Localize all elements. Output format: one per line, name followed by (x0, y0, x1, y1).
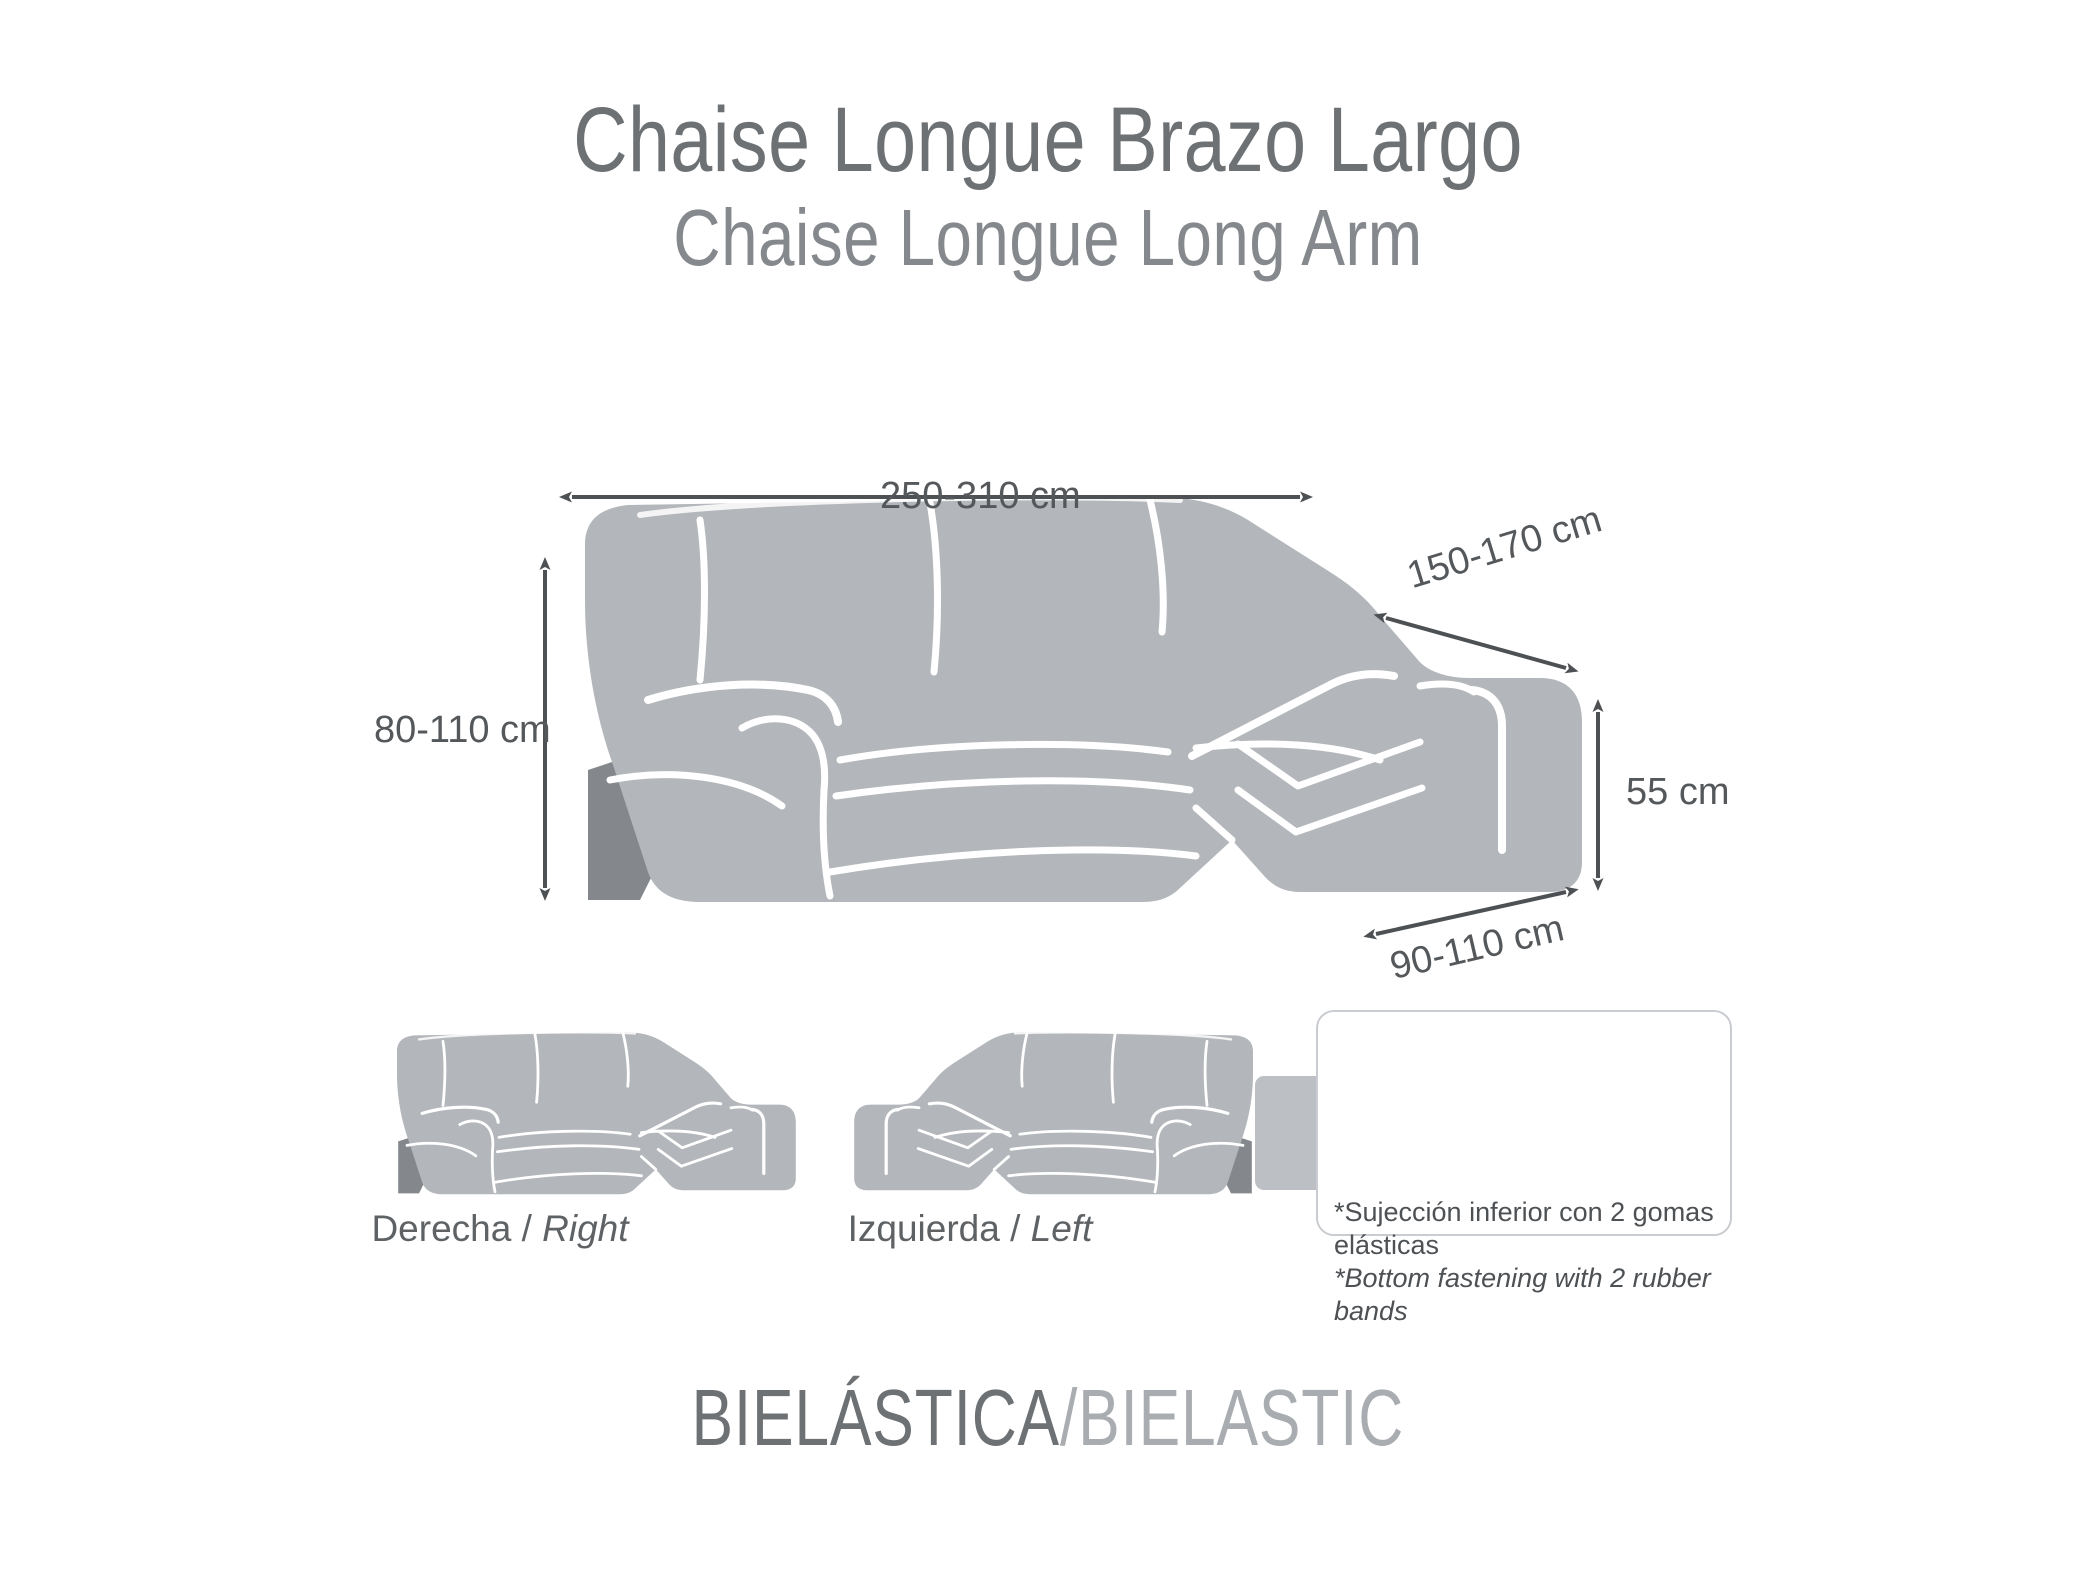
variant-caption-right: Derecha / Right (290, 1207, 710, 1251)
variant-right-label-es: Derecha / (371, 1208, 542, 1249)
fabric-type-banner: BIELÁSTICA/BIELASTIC (0, 1372, 2096, 1464)
variant-right-illustration (397, 1032, 796, 1194)
variant-left-label-es: Izquierda / (848, 1208, 1031, 1249)
title-english: Chaise Longue Long Arm (189, 192, 1908, 284)
variant-left-illustration (854, 1032, 1253, 1194)
dimension-label-width: 250-310 cm (880, 474, 1081, 518)
banner-text-en: /BIELASTIC (1060, 1373, 1404, 1462)
variant-caption-left: Izquierda / Left (760, 1207, 1180, 1251)
dimension-label-chaise-depth: 150-170 cm (1402, 497, 1607, 598)
dimension-label-seat-height: 55 cm (1626, 770, 1729, 814)
fastening-info-text: *Sujección inferior con 2 gomas elástica… (1334, 1196, 1726, 1328)
fastening-note-es: *Sujección inferior con 2 gomas elástica… (1334, 1196, 1726, 1262)
fastening-note-en: *Bottom fastening with 2 rubber bands (1334, 1262, 1726, 1328)
banner-text-es: BIELÁSTICA (692, 1373, 1060, 1462)
dimension-chaise-depth (1386, 618, 1566, 668)
product-spec-sheet: Chaise Longue Brazo Largo Chaise Longue … (0, 0, 2096, 1572)
title-spanish: Chaise Longue Brazo Largo (189, 88, 1908, 192)
variant-right-label-en: Right (542, 1208, 628, 1249)
dimension-label-chaise-width: 90-110 cm (1386, 906, 1568, 989)
page-title: Chaise Longue Brazo Largo Chaise Longue … (0, 88, 2096, 284)
dimension-label-height: 80-110 cm (374, 708, 551, 752)
variant-left-label-en: Left (1031, 1208, 1093, 1249)
